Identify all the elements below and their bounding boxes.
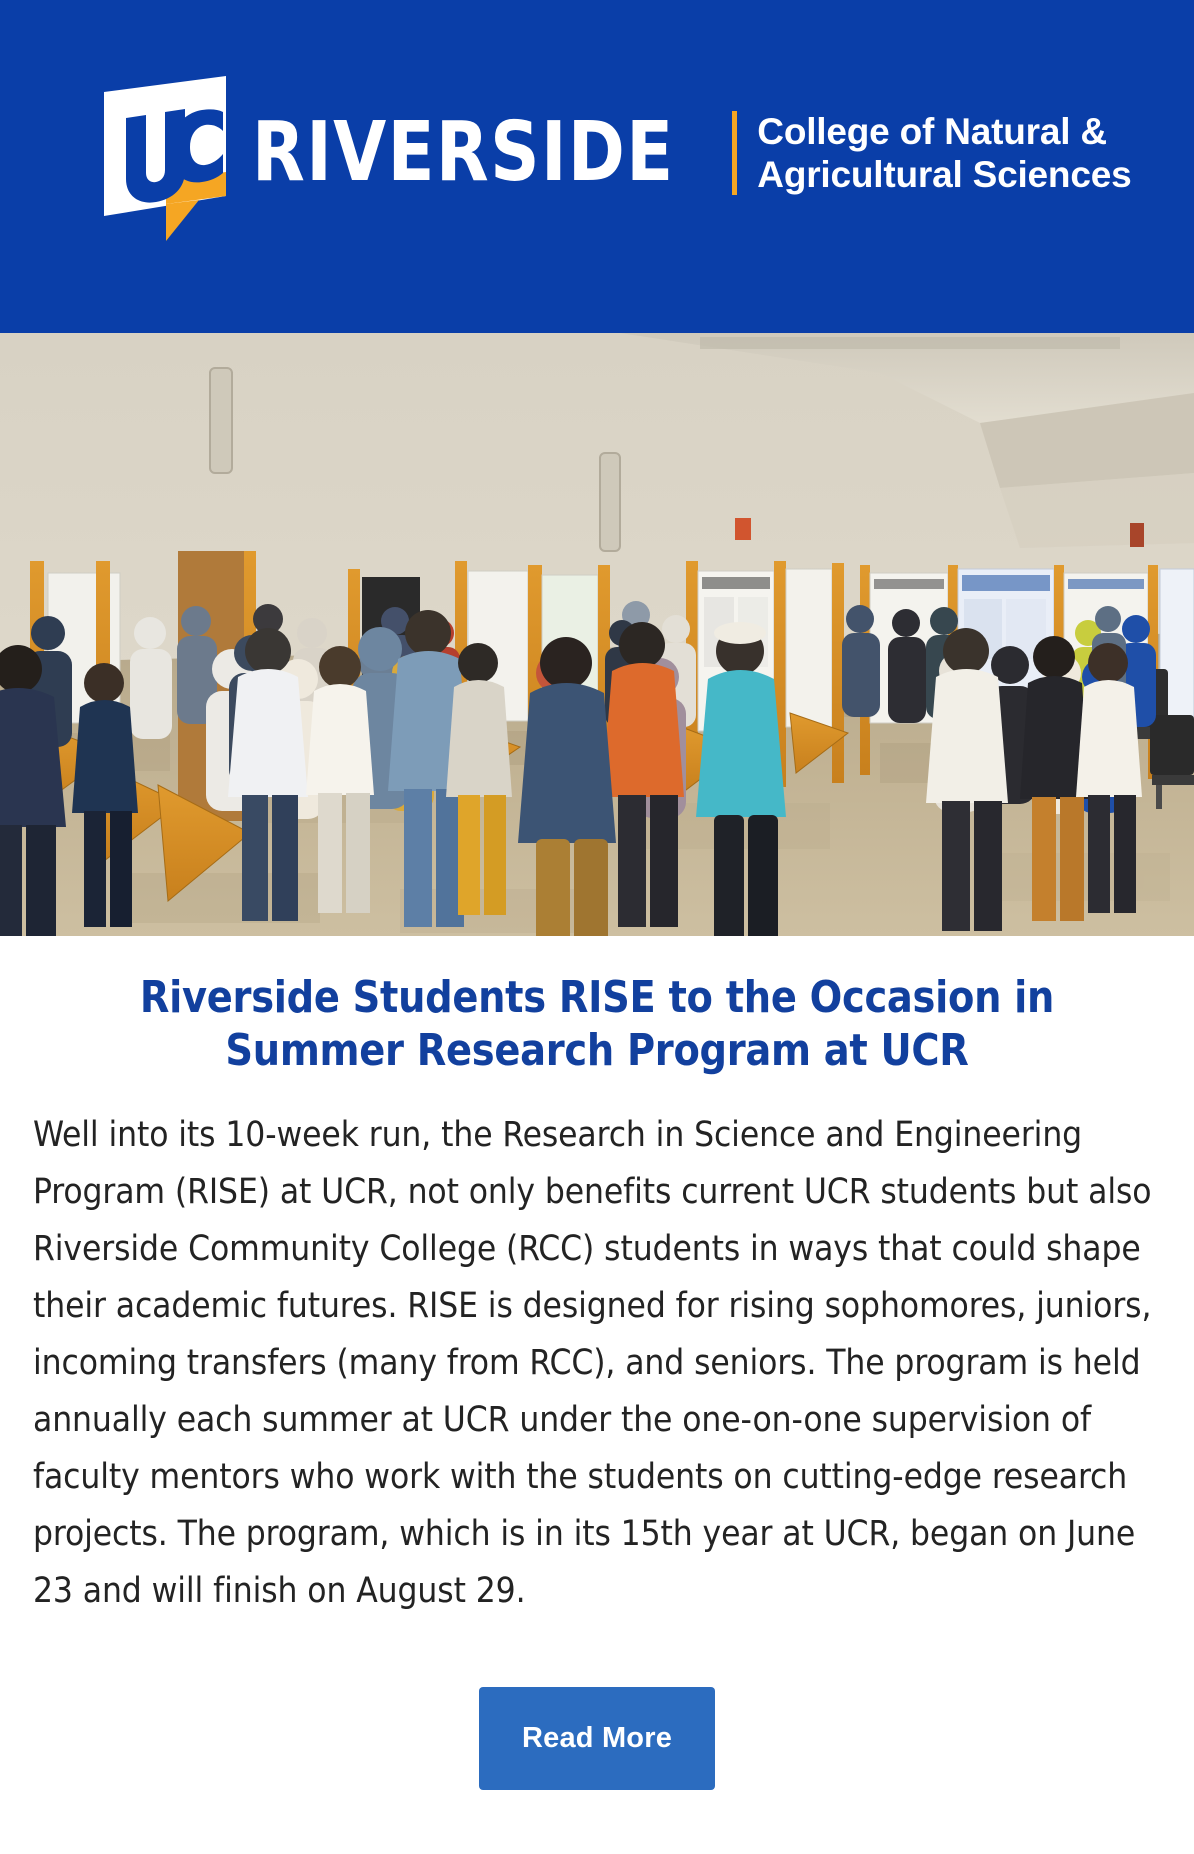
site-header: RIVERSIDE College of Natural & Agricultu… bbox=[0, 0, 1194, 333]
ucr-logo-lockup[interactable]: RIVERSIDE College of Natural & Agricultu… bbox=[104, 76, 1131, 226]
wordmark: RIVERSIDE College of Natural & Agricultu… bbox=[252, 98, 1131, 208]
college-line-1: College of Natural & bbox=[757, 111, 1107, 152]
read-more-button[interactable]: Read More bbox=[479, 1687, 715, 1790]
cta-container: Read More bbox=[33, 1687, 1161, 1790]
page-title: Riverside Students RISE to the Occasion … bbox=[50, 971, 1144, 1077]
college-line-2: Agricultural Sciences bbox=[757, 154, 1131, 195]
wordmark-divider bbox=[732, 111, 737, 195]
article-paragraph: Well into its 10-week run, the Research … bbox=[33, 1107, 1161, 1620]
uc-banner-icon bbox=[104, 76, 236, 241]
wordmark-riverside-text: RIVERSIDE bbox=[252, 112, 674, 194]
hero-photo bbox=[0, 333, 1194, 936]
footer-spacer bbox=[33, 1790, 1161, 1854]
college-name: College of Natural & Agricultural Scienc… bbox=[757, 110, 1131, 196]
newsletter-page: RIVERSIDE College of Natural & Agricultu… bbox=[0, 0, 1194, 1854]
article-body: Riverside Students RISE to the Occasion … bbox=[0, 971, 1194, 1854]
